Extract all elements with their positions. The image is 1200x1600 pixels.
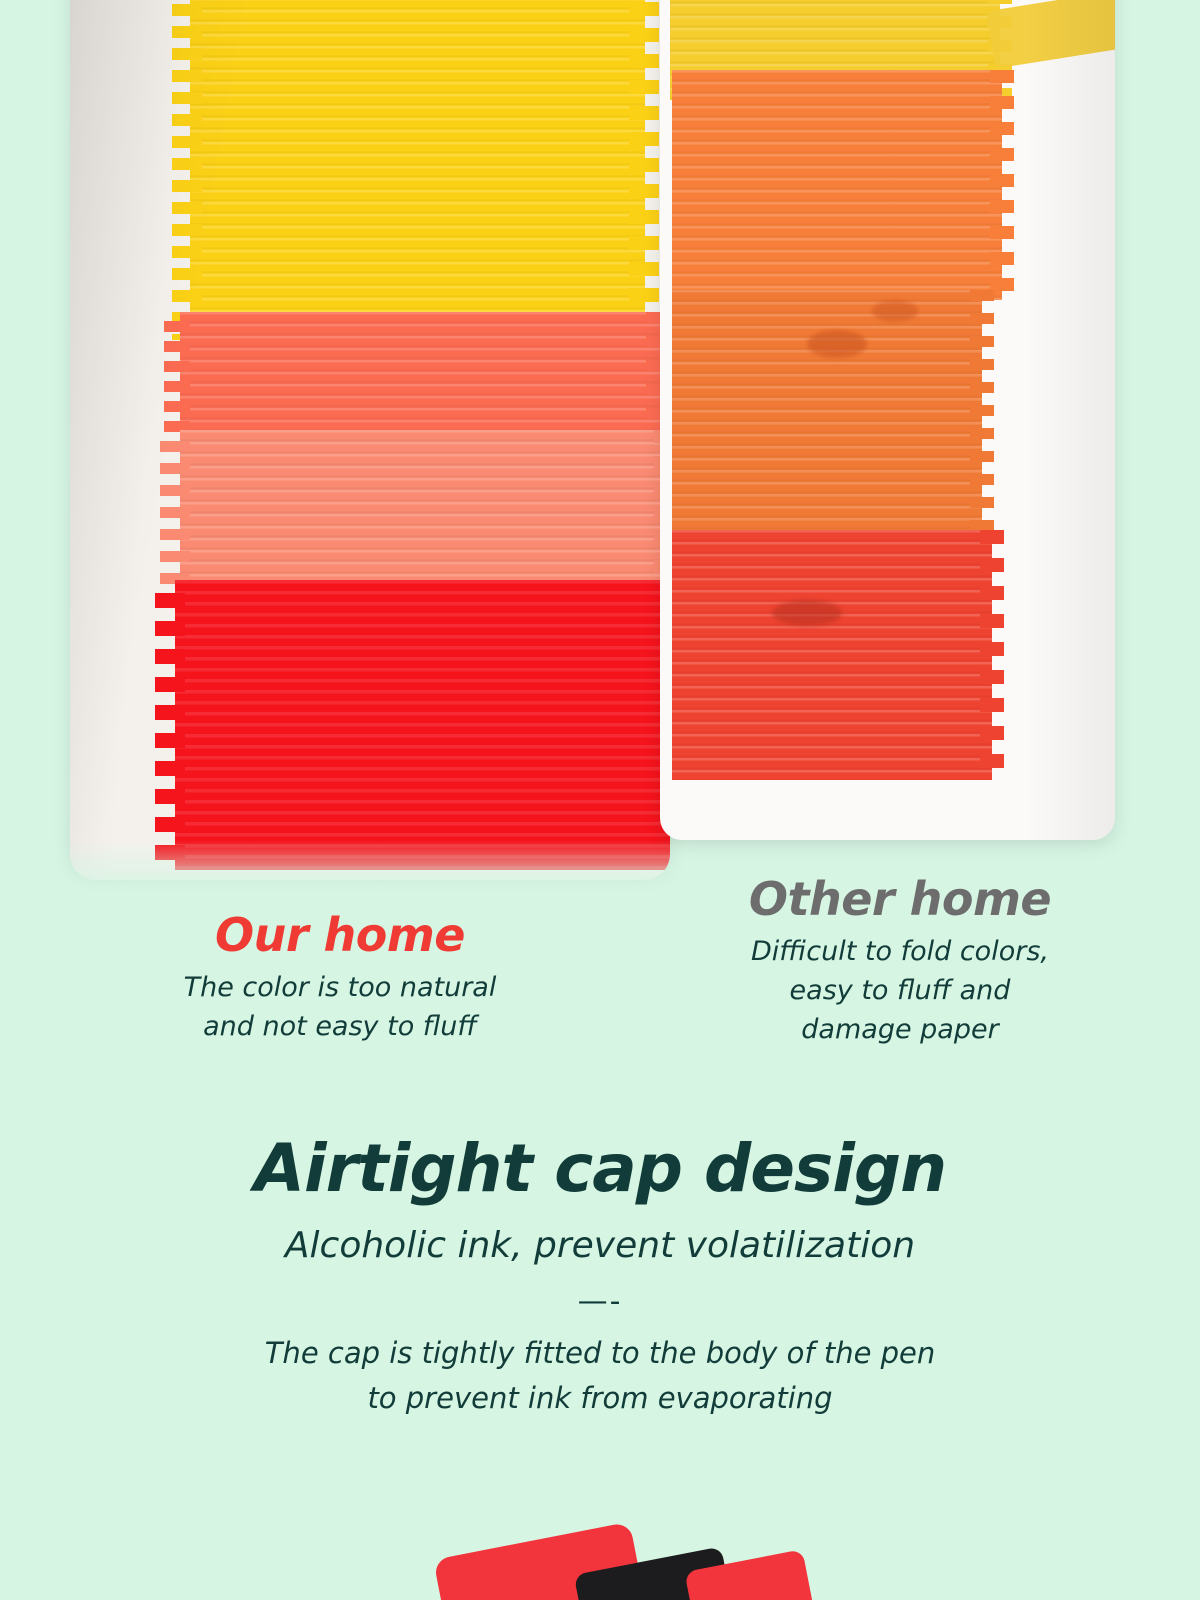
section-divider: —- xyxy=(0,1284,1200,1319)
our-home-description: The color is too natural and not easy to… xyxy=(60,968,620,1046)
section-subheadline: Alcoholic ink, prevent volatilization xyxy=(0,1225,1200,1266)
product-comparison-photo xyxy=(0,0,1200,900)
section-headline: Airtight cap design xyxy=(0,1130,1200,1207)
other-home-description-line2: easy to fluff and xyxy=(640,971,1160,1010)
other-home-title: Other home xyxy=(640,872,1160,926)
section-detail-line1: The cap is tightly fitted to the body of… xyxy=(265,1336,936,1370)
other-home-description: Difficult to fold colors, easy to fluff … xyxy=(640,932,1160,1049)
caption-our-home: Our home The color is too natural and no… xyxy=(60,908,620,1046)
caption-row: Our home The color is too natural and no… xyxy=(0,880,1200,1120)
caption-other-home: Other home Difficult to fold colors, eas… xyxy=(640,872,1160,1049)
our-home-description-line1: The color is too natural xyxy=(60,968,620,1007)
our-home-title: Our home xyxy=(60,908,620,962)
our-home-paper-sample xyxy=(70,0,670,880)
other-home-description-line1: Difficult to fold colors, xyxy=(640,932,1160,971)
our-home-description-line2: and not easy to fluff xyxy=(60,1007,620,1046)
airtight-cap-section: Airtight cap design Alcoholic ink, preve… xyxy=(0,1130,1200,1421)
section-detail: The cap is tightly fitted to the body of… xyxy=(0,1331,1200,1421)
highlighter-pen xyxy=(0,1520,1200,1600)
other-home-paper-sample xyxy=(660,0,1115,840)
paper-shadow-overlay xyxy=(660,0,1115,840)
section-detail-line2: to prevent ink from evaporating xyxy=(367,1381,832,1415)
paper-shadow-overlay xyxy=(70,0,670,880)
other-home-description-line3: damage paper xyxy=(640,1010,1160,1049)
